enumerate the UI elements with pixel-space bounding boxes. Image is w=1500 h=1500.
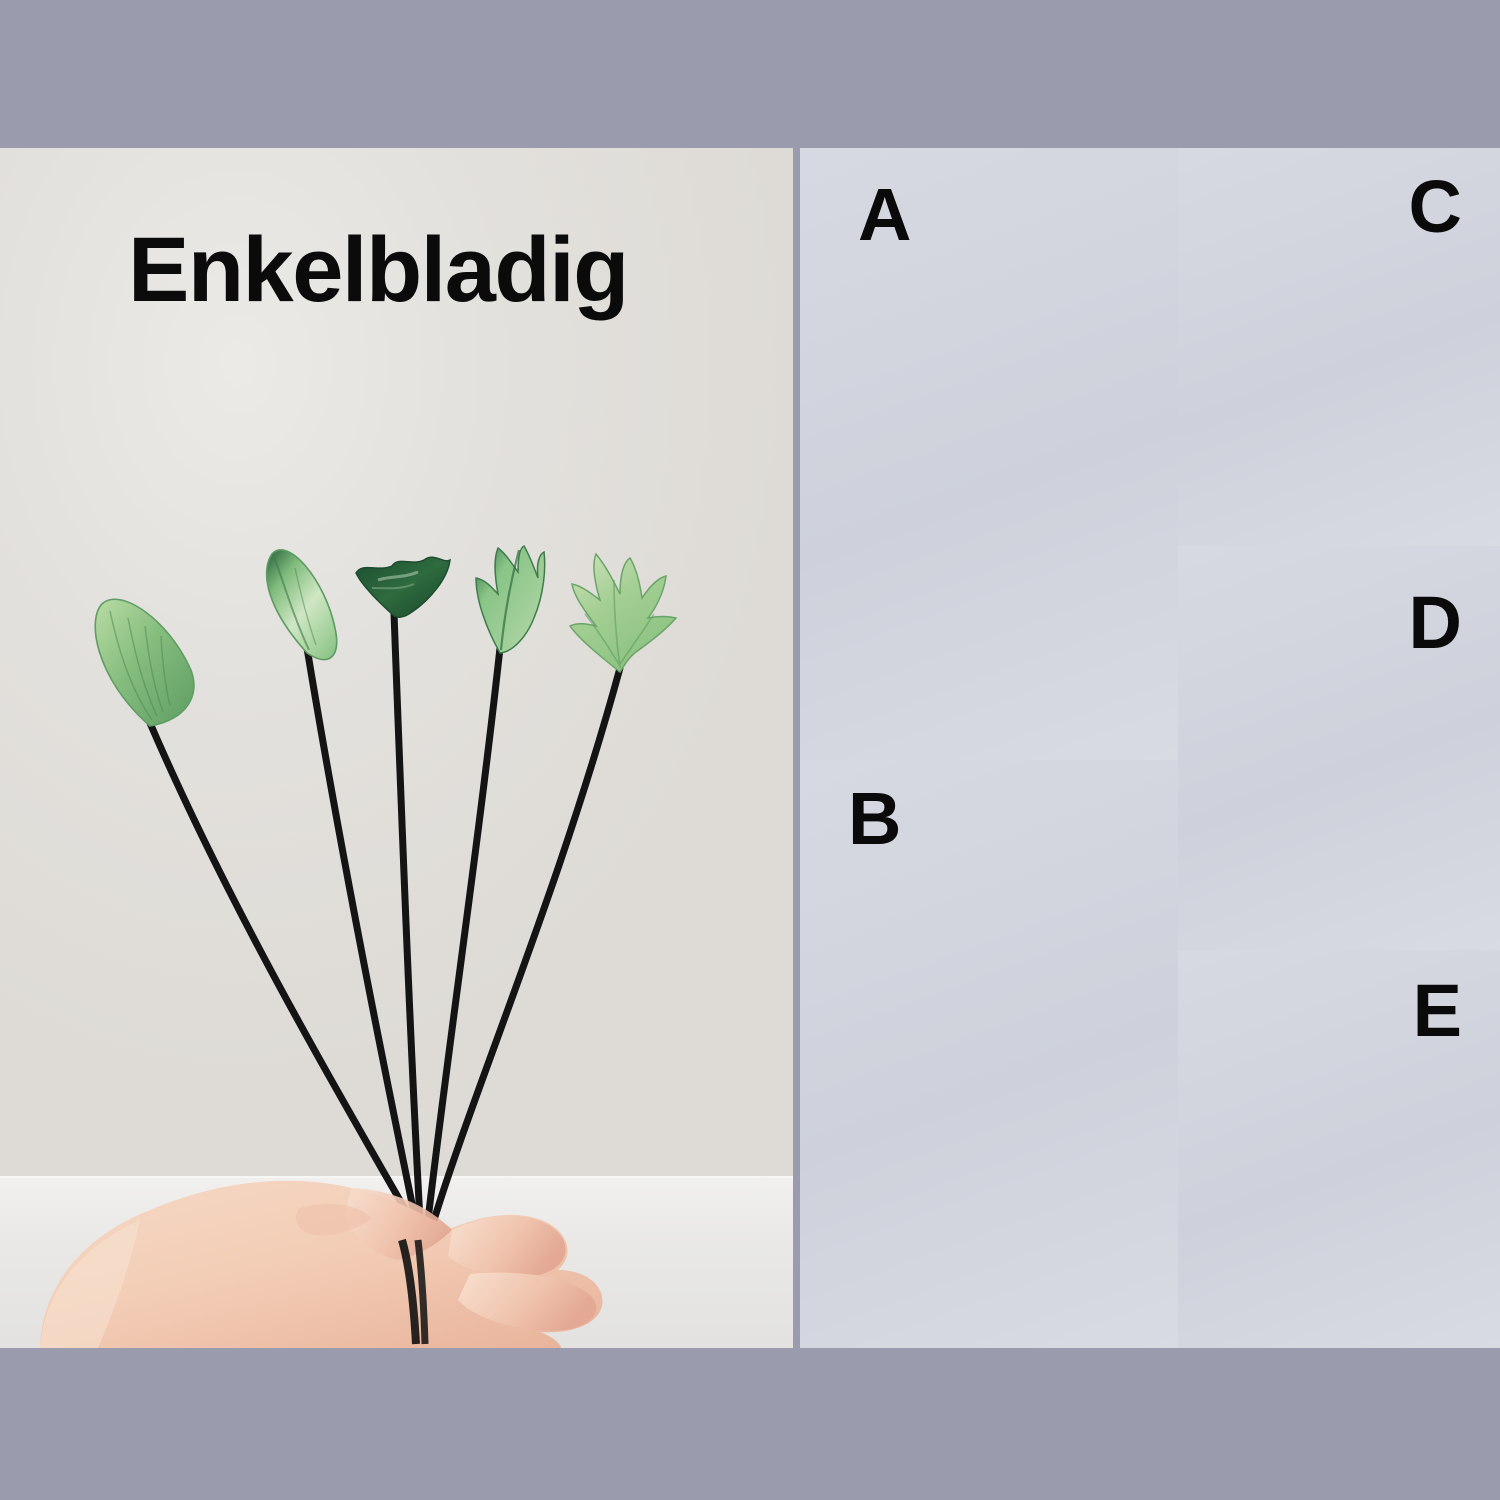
variant-cell-c[interactable]: C	[1178, 148, 1500, 546]
left-photo-panel: Enkelbladig	[0, 148, 793, 1348]
cell-background-a	[800, 148, 1178, 760]
leaf-pick-4	[476, 546, 545, 653]
variant-label-b: B	[848, 782, 901, 856]
leaf-pick-1	[95, 599, 194, 726]
variant-label-c: C	[1409, 170, 1462, 244]
leaf-variant-grid: A	[800, 148, 1500, 1348]
top-border-band	[0, 0, 1500, 148]
bottom-border-band	[0, 1348, 1500, 1500]
leaf-pick-3	[356, 557, 450, 617]
leaf-pick-5	[570, 554, 676, 672]
variant-cell-e[interactable]: E	[1178, 950, 1500, 1348]
variant-cell-d[interactable]: D	[1178, 546, 1500, 950]
leaf-pick-2	[267, 550, 337, 660]
variant-label-a: A	[858, 178, 911, 252]
poster-root: Enkelbladig	[0, 0, 1500, 1500]
variant-cell-a[interactable]: A	[800, 148, 1178, 760]
variant-cell-b[interactable]: B	[800, 760, 1178, 1348]
glass-leaf-bouquet	[0, 148, 793, 1348]
variant-label-d: D	[1409, 586, 1462, 660]
hand-holding-picks	[40, 1181, 603, 1348]
variant-label-e: E	[1413, 974, 1462, 1048]
image-collage: Enkelbladig	[0, 148, 1500, 1348]
